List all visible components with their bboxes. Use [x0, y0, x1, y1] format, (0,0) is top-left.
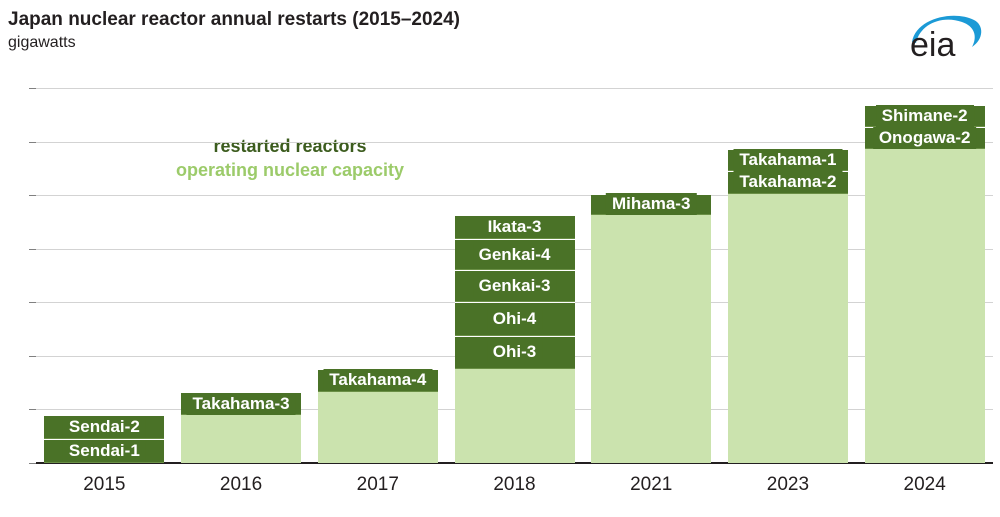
reactor-label: Takahama-4: [323, 369, 432, 391]
y-axis-tick-mark: [29, 249, 36, 250]
gridline: [36, 142, 993, 143]
restarted-reactor-segment[interactable]: Takahama-1: [728, 149, 848, 171]
x-axis-tick-label-2018: 2018: [455, 474, 575, 496]
x-axis-tick-label-2023: 2023: [728, 474, 848, 496]
reactor-label: Onogawa-2: [873, 127, 977, 149]
reactor-label: Mihama-3: [606, 193, 696, 215]
gridline: [36, 195, 993, 196]
reactor-label: Sendai-1: [63, 440, 146, 462]
chart-container: Japan nuclear reactor annual restarts (2…: [0, 0, 1000, 517]
restarted-reactor-segment[interactable]: Genkai-3: [455, 270, 575, 302]
restarted-reactor-segment[interactable]: Ikata-3: [455, 215, 575, 239]
reactor-label: Sendai-2: [63, 416, 146, 438]
restarted-reactor-segment[interactable]: Sendai-2: [44, 415, 164, 439]
reactor-label: Ohi-4: [487, 308, 542, 330]
y-axis-tick-mark: [29, 409, 36, 410]
x-axis-tick-label-2024: 2024: [865, 474, 985, 496]
x-axis-tick-label-2015: 2015: [44, 474, 164, 496]
y-axis-tick-mark: [29, 195, 36, 196]
restarted-reactor-segment[interactable]: Takahama-4: [318, 369, 438, 392]
operating-capacity-segment: [865, 105, 985, 463]
x-axis-tick-label-2017: 2017: [318, 474, 438, 496]
x-axis-labels: 2015201620172018202120232024: [36, 470, 993, 510]
restarted-reactor-segment[interactable]: Mihama-3: [591, 194, 711, 215]
y-axis-tick-mark: [29, 356, 36, 357]
plot-area: 02468101214Sendai-2Sendai-1Takahama-3Tak…: [36, 88, 993, 463]
operating-capacity-segment: [591, 194, 711, 463]
eia-wordmark: eia: [910, 26, 955, 62]
y-axis-tick-mark: [29, 302, 36, 303]
bar-2023[interactable]: Takahama-1Takahama-2: [728, 149, 848, 463]
restarted-reactor-segment[interactable]: Takahama-3: [181, 392, 301, 415]
y-axis-tick-mark: [29, 142, 36, 143]
reactor-label: Shimane-2: [876, 105, 974, 127]
restarted-reactor-segment[interactable]: Sendai-1: [44, 439, 164, 463]
bar-2024[interactable]: Shimane-2Onogawa-2: [865, 105, 985, 463]
restarted-reactor-segment[interactable]: Onogawa-2: [865, 127, 985, 149]
reactor-label: Takahama-3: [187, 393, 296, 415]
restarted-reactor-segment[interactable]: Shimane-2: [865, 105, 985, 127]
x-axis-tick-label-2016: 2016: [181, 474, 301, 496]
bar-2017[interactable]: Takahama-4: [318, 369, 438, 463]
reactor-label: Takahama-1: [733, 149, 842, 171]
restarted-reactor-segment[interactable]: Takahama-2: [728, 171, 848, 193]
reactor-label: Genkai-3: [473, 275, 557, 297]
bar-2018[interactable]: Ikata-3Genkai-4Genkai-3Ohi-4Ohi-3: [455, 215, 575, 463]
restarted-reactor-segment[interactable]: Ohi-4: [455, 302, 575, 335]
bar-2021[interactable]: Mihama-3: [591, 194, 711, 463]
gridline: [36, 88, 993, 89]
reactor-label: Ikata-3: [482, 216, 548, 238]
y-axis-tick-mark: [29, 88, 36, 89]
restarted-reactor-segment[interactable]: Ohi-3: [455, 336, 575, 369]
eia-logo: eia: [902, 6, 988, 62]
reactor-label: Genkai-4: [473, 244, 557, 266]
bar-2015[interactable]: Sendai-2Sendai-1: [44, 415, 164, 463]
page-title: Japan nuclear reactor annual restarts (2…: [8, 8, 888, 32]
operating-capacity-segment: [728, 149, 848, 463]
reactor-label: Ohi-3: [487, 341, 542, 363]
eia-logo-graphic: eia: [902, 6, 988, 62]
bar-2016[interactable]: Takahama-3: [181, 392, 301, 463]
chart-units-subtitle: gigawatts: [8, 32, 888, 53]
restarted-reactor-segment[interactable]: Genkai-4: [455, 239, 575, 271]
y-axis-tick-mark: [29, 463, 36, 464]
chart-header: Japan nuclear reactor annual restarts (2…: [8, 8, 888, 53]
reactor-label: Takahama-2: [733, 171, 842, 193]
x-axis-tick-label-2021: 2021: [591, 474, 711, 496]
